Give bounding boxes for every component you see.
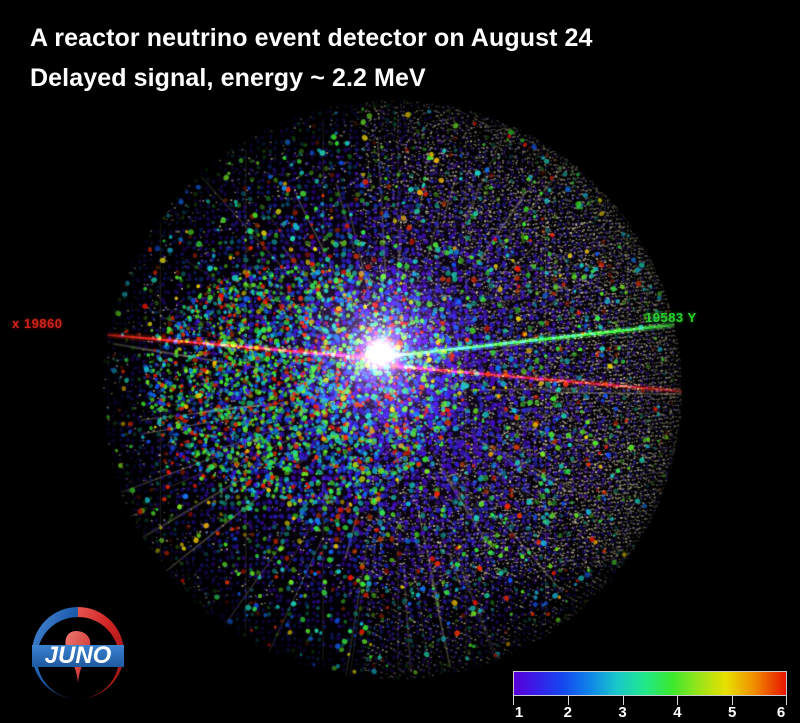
colorbar-tick-mark	[786, 696, 787, 705]
colorbar-tick-label: 4	[673, 704, 681, 721]
colorbar-tick-label: 2	[564, 704, 572, 721]
colorbar: 123456	[513, 671, 787, 722]
colorbar-ticks: 123456	[513, 696, 787, 722]
colorbar-tick-label: 6	[777, 704, 785, 721]
juno-logo-svg: JUNO	[14, 597, 142, 709]
juno-logo: JUNO	[14, 597, 142, 709]
event-display-stage: A reactor neutrino event detector on Aug…	[0, 0, 800, 723]
colorbar-gradient	[513, 671, 787, 696]
colorbar-tick-label: 1	[515, 704, 523, 721]
colorbar-tick-label: 3	[618, 704, 626, 721]
logo-text: JUNO	[45, 642, 112, 669]
colorbar-tick-label: 5	[728, 704, 736, 721]
